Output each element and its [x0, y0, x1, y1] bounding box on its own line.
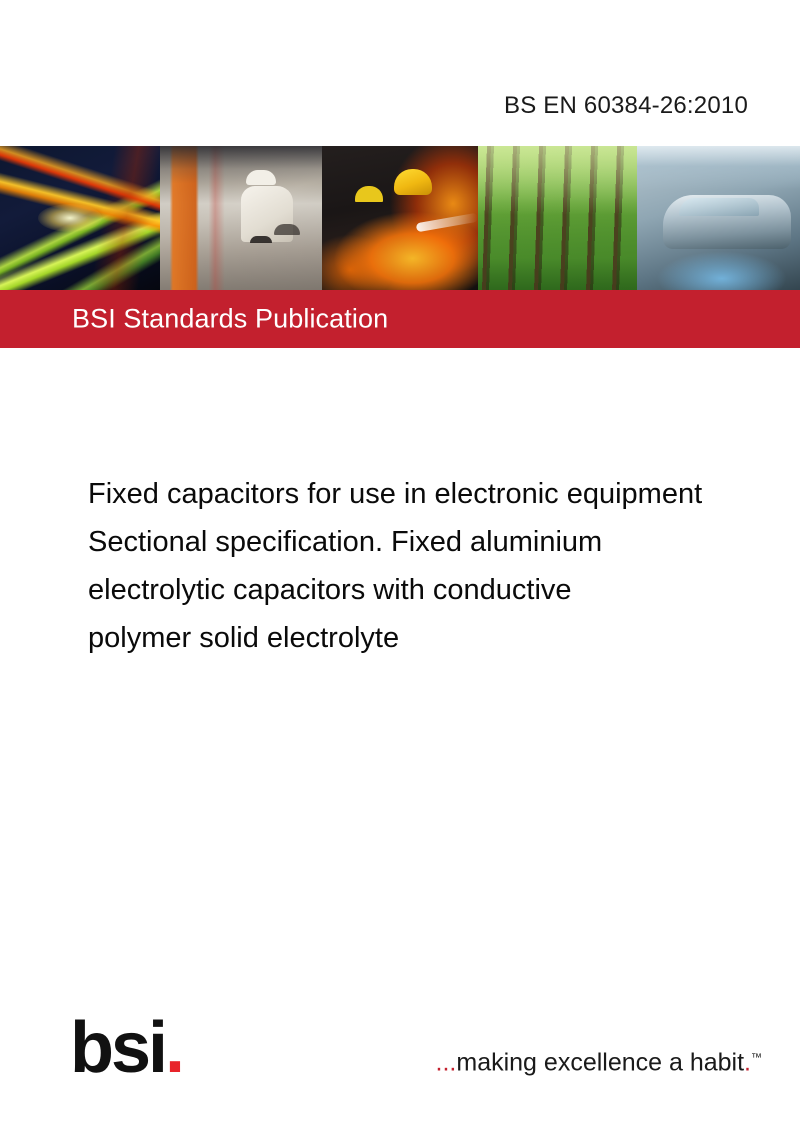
banner-red-bar: BSI Standards Publication — [0, 290, 800, 348]
banner-panel-traffic-light-trails — [0, 146, 160, 290]
tagline-text: making excellence a habit — [456, 1048, 744, 1076]
tagline-full-stop: . — [744, 1048, 751, 1076]
bsi-logo-dot: . — [165, 1008, 182, 1088]
bsi-tagline: ...making excellence a habit.™ — [436, 1044, 762, 1076]
banner-panel-firefighters — [322, 146, 478, 290]
page-title: Fixed capacitors for use in electronic e… — [88, 470, 788, 662]
tagline-leading-ellipsis: ... — [436, 1048, 457, 1076]
page-title-line-3: electrolytic capacitors with conductive — [88, 566, 788, 614]
banner-panel-forest — [478, 146, 637, 290]
page-title-line-2: Sectional specification. Fixed aluminium — [88, 518, 788, 566]
banner-panel-warehouse-worker — [160, 146, 322, 290]
banner-title: BSI Standards Publication — [72, 304, 388, 335]
banner-image-strip — [0, 146, 800, 290]
banner-panel-car-assembly-line — [637, 146, 800, 290]
standard-number: BS EN 60384-26:2010 — [504, 92, 748, 120]
page-title-line-1: Fixed capacitors for use in electronic e… — [88, 470, 788, 518]
cover-banner: BSI Standards Publication — [0, 146, 800, 348]
bsi-logo-wordmark: bsi — [70, 1008, 165, 1088]
trademark-icon: ™ — [751, 1052, 762, 1064]
page-title-line-4: polymer solid electrolyte — [88, 614, 788, 662]
bsi-logo: bsi. — [70, 1012, 182, 1084]
